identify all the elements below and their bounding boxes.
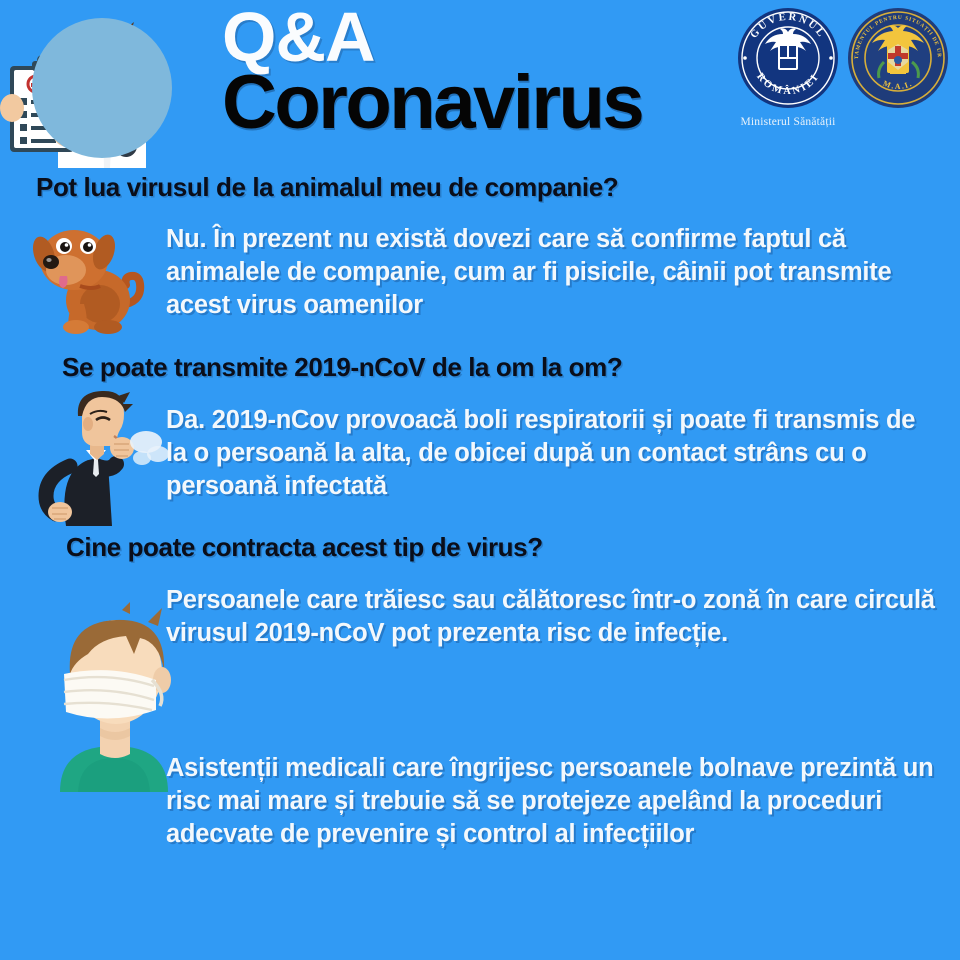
ministry-caption: Ministerul Sănătății [736, 116, 840, 128]
title-block: Q&A Coronavirus [222, 4, 692, 141]
logo-group: GUVERNUL ROMÂNIEI Ministerul Sănătății [736, 4, 958, 144]
infographic-poster: Q&A Coronavirus [0, 0, 960, 960]
guvernul-romaniei-logo: GUVERNUL ROMÂNIEI Ministerul Sănătății [736, 6, 840, 110]
answer-pet-transmission: Nu. În prezent nu există dovezi care să … [166, 223, 956, 322]
coughing-man-icon [30, 388, 170, 528]
answer-healthcare-workers: Asistenții medicali care îngrijesc perso… [166, 752, 941, 851]
question-who-can-contract: Cine poate contracta acest tip de virus? [66, 532, 543, 563]
question-pet-transmission: Pot lua virusul de la animalul meu de co… [36, 172, 618, 203]
answer-human-to-human: Da. 2019-nCov provoacă boli respiratorii… [166, 404, 941, 503]
poster-header: Q&A Coronavirus [0, 0, 960, 168]
question-human-to-human: Se poate transmite 2019-nCoV de la om la… [62, 352, 622, 383]
page-title-coronavirus: Coronavirus [222, 65, 692, 141]
departamentul-situatii-urgenta-logo: DEPARTAMENTUL PENTRU SITUAȚII DE URGENȚĂ… [846, 6, 950, 110]
answer-who-can-contract: Persoanele care trăiesc sau călătoresc î… [166, 584, 956, 650]
dog-icon [22, 212, 152, 342]
doctor-with-clipboard-icon [6, 8, 178, 168]
doctor-circle-backdrop [32, 18, 172, 158]
